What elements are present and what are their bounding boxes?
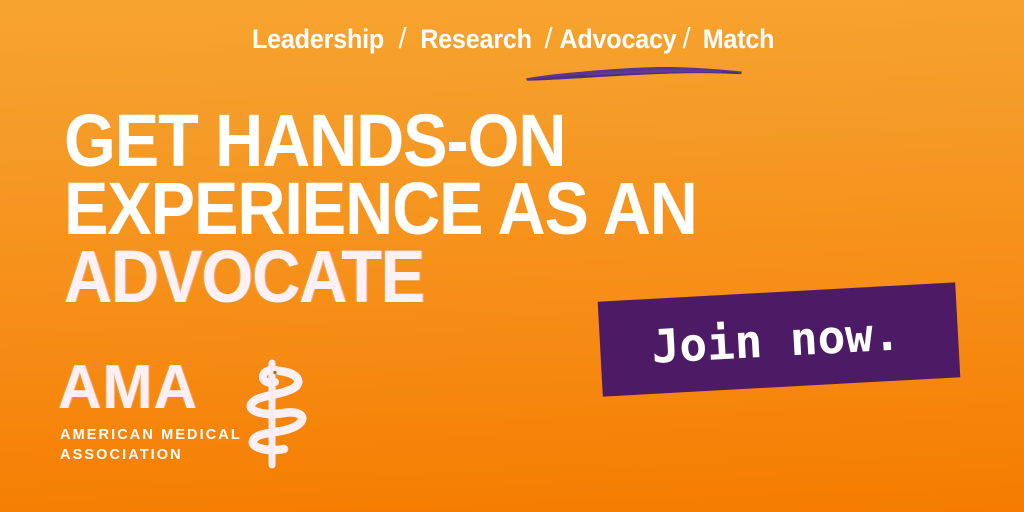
headline-line-2: EXPERIENCE AS AN: [64, 175, 697, 243]
ama-wordmark: AMA: [58, 357, 198, 419]
headline-line-1: GET HANDS-ON: [64, 107, 697, 175]
headline: GET HANDS-ON EXPERIENCE AS AN ADVOCATE: [64, 107, 767, 311]
top-nav: Leadership/Research/Advocacy/Match: [0, 25, 1024, 54]
nav-separator-3: /: [681, 25, 700, 54]
nav-separator-1: /: [389, 25, 415, 54]
ama-logo[interactable]: AMA AMERICAN MEDICAL ASSOCIATION: [58, 357, 328, 472]
advocacy-underline-brushstroke: [523, 62, 745, 82]
snake-eye-icon: [273, 371, 276, 374]
join-now-label: Join now.: [598, 282, 961, 396]
ama-tagline-line-2: ASSOCIATION: [60, 445, 242, 465]
nav-item-research[interactable]: Research: [420, 26, 532, 53]
promo-banner: Leadership/Research/Advocacy/Match GET H…: [0, 0, 1024, 512]
nav-item-advocacy[interactable]: Advocacy: [559, 26, 676, 53]
ama-tagline: AMERICAN MEDICAL ASSOCIATION: [60, 425, 242, 465]
nav-item-leadership[interactable]: Leadership: [252, 26, 384, 53]
nav-separator-2: /: [535, 25, 554, 54]
join-now-button[interactable]: Join now.: [598, 282, 961, 396]
ama-tagline-line-1: AMERICAN MEDICAL: [60, 425, 242, 445]
nav-item-match[interactable]: Match: [702, 26, 774, 53]
